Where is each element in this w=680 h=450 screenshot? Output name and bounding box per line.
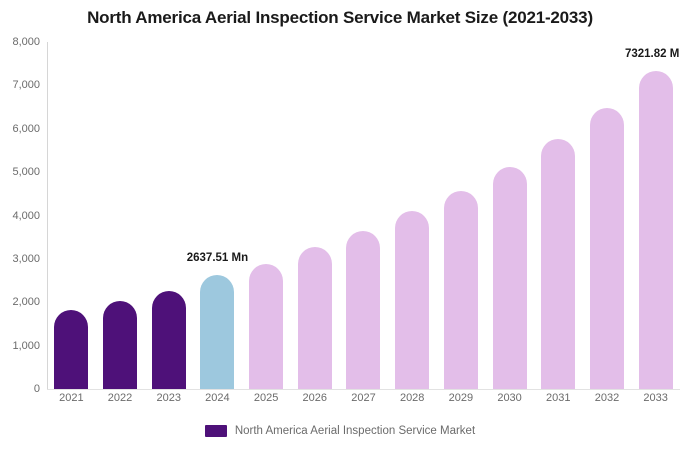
bar-slot <box>290 42 339 389</box>
x-axis-tick-label: 2031 <box>546 392 570 404</box>
chart-legend: North America Aerial Inspection Service … <box>0 425 680 437</box>
x-axis-tick-label: 2030 <box>497 392 521 404</box>
x-axis-tick-label: 2028 <box>400 392 424 404</box>
bar-slot <box>583 42 632 389</box>
bar-slot <box>144 42 193 389</box>
legend-item-label: North America Aerial Inspection Service … <box>235 425 475 437</box>
y-axis: 01,0002,0003,0004,0005,0006,0007,0008,00… <box>0 42 40 389</box>
y-axis-tick-label: 0 <box>0 383 40 395</box>
bar-slot <box>631 42 680 389</box>
bar-slot <box>485 42 534 389</box>
y-axis-tick-label: 2,000 <box>0 296 40 308</box>
x-axis-tick-label: 2021 <box>59 392 83 404</box>
chart-bar[interactable] <box>200 275 234 389</box>
x-axis-tick-label: 2027 <box>351 392 375 404</box>
chart-bar[interactable] <box>541 139 575 389</box>
x-axis-tick-label: 2026 <box>303 392 327 404</box>
x-axis-baseline <box>47 389 680 390</box>
chart-bar[interactable] <box>249 264 283 389</box>
chart-bar[interactable] <box>395 211 429 389</box>
chart-title: North America Aerial Inspection Service … <box>0 8 680 28</box>
chart-bar[interactable] <box>152 291 186 389</box>
y-axis-tick-label: 1,000 <box>0 340 40 352</box>
chart-bar[interactable] <box>493 167 527 389</box>
chart-bar[interactable] <box>346 231 380 389</box>
x-axis-tick-label: 2024 <box>205 392 229 404</box>
x-axis: 2021202220232024202520262027202820292030… <box>47 392 680 412</box>
x-axis-tick-label: 2022 <box>108 392 132 404</box>
x-axis-tick-label: 2029 <box>449 392 473 404</box>
y-axis-tick-label: 5,000 <box>0 166 40 178</box>
bars-layer <box>47 42 680 389</box>
bar-slot <box>193 42 242 389</box>
y-axis-tick-label: 8,000 <box>0 36 40 48</box>
bar-value-label: 7321.82 Mn <box>625 48 680 60</box>
chart-bar[interactable] <box>298 247 332 389</box>
bar-slot <box>437 42 486 389</box>
y-axis-tick-label: 6,000 <box>0 123 40 135</box>
chart-bar[interactable] <box>54 310 88 389</box>
bar-slot <box>534 42 583 389</box>
x-axis-tick-label: 2025 <box>254 392 278 404</box>
chart-bar[interactable] <box>590 108 624 389</box>
y-axis-tick-label: 3,000 <box>0 253 40 265</box>
x-axis-tick-label: 2023 <box>156 392 180 404</box>
bar-value-label: 2637.51 Mn <box>187 252 248 264</box>
x-axis-tick-label: 2033 <box>643 392 667 404</box>
y-axis-tick-label: 4,000 <box>0 210 40 222</box>
chart-bar[interactable] <box>103 301 137 389</box>
x-axis-tick-label: 2032 <box>595 392 619 404</box>
chart-bar[interactable] <box>444 191 478 389</box>
bar-slot <box>339 42 388 389</box>
bar-slot <box>388 42 437 389</box>
chart-bar[interactable] <box>639 71 673 389</box>
bar-slot <box>96 42 145 389</box>
y-axis-tick-label: 7,000 <box>0 79 40 91</box>
chart-container: North America Aerial Inspection Service … <box>0 0 680 450</box>
bar-slot <box>47 42 96 389</box>
bar-slot <box>242 42 291 389</box>
legend-swatch-icon <box>205 425 227 437</box>
